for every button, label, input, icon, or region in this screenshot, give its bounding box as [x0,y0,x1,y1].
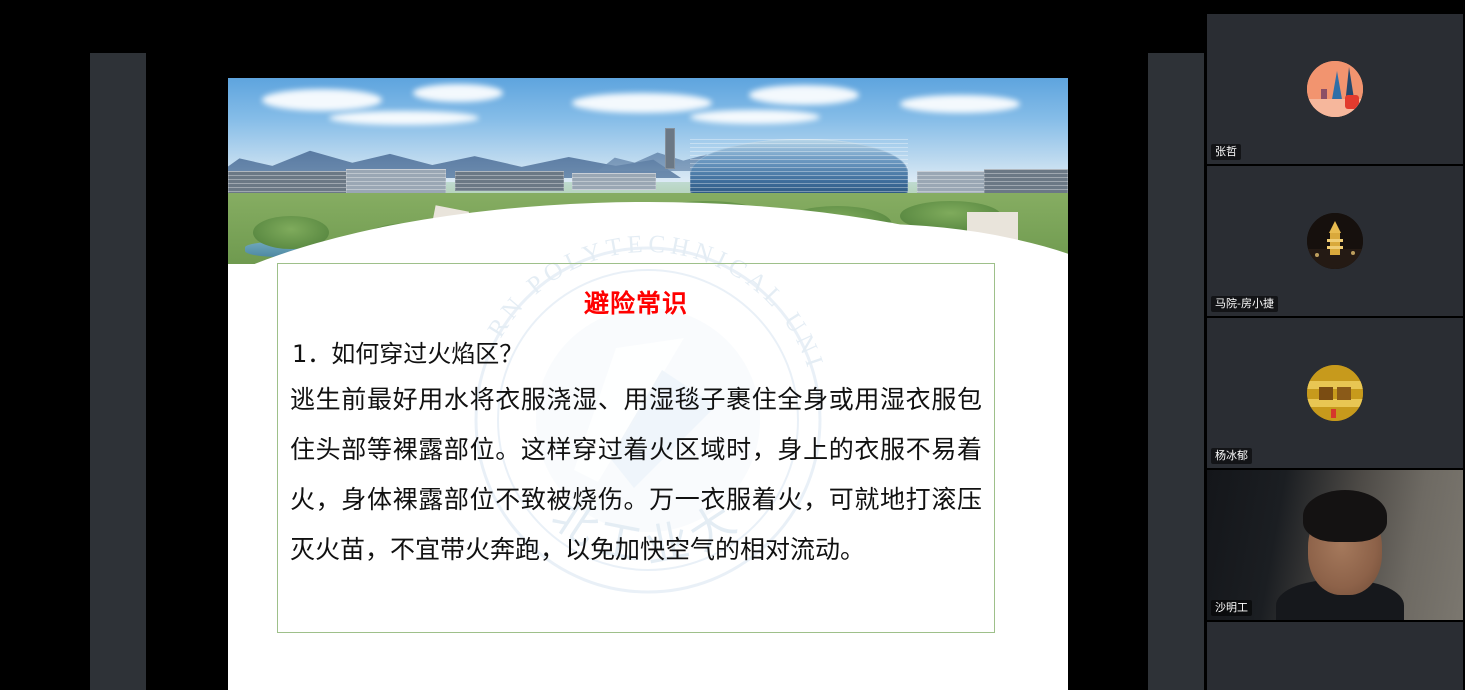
slide-header-photo [228,78,1068,264]
slide-question: 1．如何穿过火焰区？ [292,334,984,369]
building [917,171,993,193]
slide-content-box: 避险常识 1．如何穿过火焰区？ 逃生前最好用水将衣服浇湿、用湿毯子裹住全身或用湿… [277,263,995,633]
webcam-video [1207,470,1463,620]
participant-tile[interactable]: 张哲 [1207,14,1463,164]
participant-tile[interactable] [1207,622,1463,690]
participant-name: 杨冰郁 [1211,448,1252,464]
participant-name: 张哲 [1211,144,1241,160]
building [455,171,564,191]
participant-name: 马院-房小捷 [1211,296,1278,312]
slide-title: 避险常识 [288,284,984,320]
participant-tile[interactable]: 马院-房小捷 [1207,166,1463,316]
golden-temple-avatar [1307,365,1363,421]
participant-filmstrip[interactable]: 张哲 马院-房小捷 [1205,0,1465,690]
cloud [262,89,382,111]
antenna-spire [665,128,675,169]
participant-tile-active-speaker[interactable]: 沙明工 [1207,470,1463,620]
city-skyline-avatar [1307,61,1363,117]
meeting-screen: RN POLYTECHNICAL UNI 北工业大 避险常识 1．如何穿过火焰区… [0,0,1465,690]
building [346,169,447,195]
participant-tile[interactable]: 杨冰郁 [1207,318,1463,468]
cloud [413,84,503,102]
stage-side-band-right [1148,53,1204,690]
slide-body-text: 逃生前最好用水将衣服浇湿、用湿毯子裹住全身或用湿衣服包住头部等裸露部位。这样穿过… [290,375,982,575]
stage-side-band-left [90,53,146,690]
night-pagoda-avatar [1307,213,1363,269]
shared-screen-stage[interactable]: RN POLYTECHNICAL UNI 北工业大 避险常识 1．如何穿过火焰区… [0,0,1205,690]
cloud [900,95,1020,113]
presentation-slide: RN POLYTECHNICAL UNI 北工业大 避险常识 1．如何穿过火焰区… [228,78,1068,690]
person-hair [1303,490,1387,542]
building [572,173,656,190]
participant-name: 沙明工 [1211,600,1252,616]
cloud [690,110,820,124]
cloud [572,93,712,113]
glass-office-building [690,139,908,195]
building [984,169,1068,195]
